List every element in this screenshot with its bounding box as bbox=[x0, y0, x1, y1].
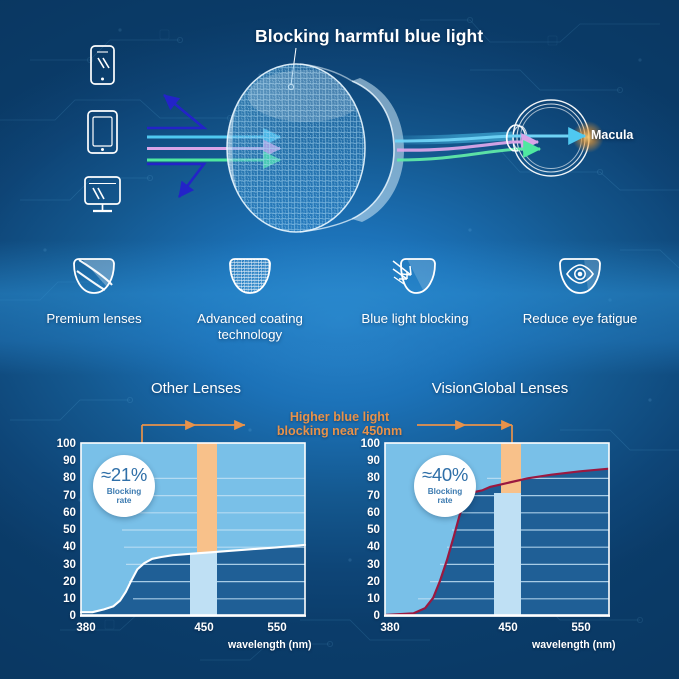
y-tick-left: 100 bbox=[50, 438, 76, 450]
blocking-rate-badge-left: ≈21% Blockingrate bbox=[93, 455, 155, 517]
lens-graphic bbox=[225, 62, 404, 237]
y-tick-left: 70 bbox=[50, 490, 76, 502]
feature-item-premium-lenses[interactable]: Premium lenses bbox=[12, 252, 176, 327]
features-row: Premium lenses bbox=[0, 252, 679, 362]
feature-label: Reduce eye fatigue bbox=[498, 311, 662, 327]
y-tick-right: 10 bbox=[354, 593, 380, 605]
y-tick-right: 30 bbox=[354, 559, 380, 571]
feature-label: Premium lenses bbox=[12, 311, 176, 327]
y-tick-right: 50 bbox=[354, 524, 380, 536]
hero-vectors bbox=[0, 0, 679, 250]
y-tick-left: 60 bbox=[50, 507, 76, 519]
lens-eye-icon bbox=[498, 252, 662, 302]
blue-band-right bbox=[494, 493, 521, 615]
feature-label: Advanced coating technology bbox=[168, 311, 332, 342]
x-tick-right: 550 bbox=[558, 622, 604, 634]
blue-band-left bbox=[190, 553, 217, 615]
y-tick-right: 70 bbox=[354, 490, 380, 502]
feature-label-line1: Advanced coating bbox=[197, 311, 303, 326]
blocking-rate-caption: Blockingrate bbox=[428, 488, 463, 506]
ray-cyan-out bbox=[395, 136, 512, 141]
blocking-rate-value: ≈40% bbox=[422, 466, 468, 485]
y-tick-right: 20 bbox=[354, 576, 380, 588]
infographic-root: Blocking harmful blue light bbox=[0, 0, 679, 679]
ray-reflected-upper bbox=[147, 95, 204, 128]
feature-item-advanced-coating[interactable]: Advanced coating technology bbox=[168, 252, 332, 342]
feature-item-reduce-eye-fatigue[interactable]: Reduce eye fatigue bbox=[498, 252, 662, 327]
y-tick-left: 20 bbox=[50, 576, 76, 588]
orange-band-right bbox=[501, 443, 521, 494]
lens-premium-icon bbox=[12, 252, 176, 302]
feature-item-blue-light-blocking[interactable]: Blue light blocking bbox=[333, 252, 497, 327]
tablet-icon bbox=[88, 111, 117, 153]
feature-label: Blue light blocking bbox=[333, 311, 497, 327]
lens-coating-icon bbox=[168, 252, 332, 302]
lens-blueblock-icon bbox=[333, 252, 497, 302]
y-tick-right: 0 bbox=[354, 610, 380, 622]
feature-label-line2: technology bbox=[218, 327, 282, 342]
blocking-rate-badge-right: ≈40% Blockingrate bbox=[414, 455, 476, 517]
y-tick-left: 80 bbox=[50, 472, 76, 484]
ray-reflected-lower bbox=[147, 164, 204, 197]
monitor-icon bbox=[85, 177, 120, 211]
y-tick-right: 90 bbox=[354, 455, 380, 467]
y-tick-left: 50 bbox=[50, 524, 76, 536]
x-axis-caption-right: wavelength (nm) bbox=[532, 639, 616, 651]
orange-band-left bbox=[197, 443, 217, 553]
blocking-rate-value: ≈21% bbox=[101, 466, 147, 485]
y-tick-right: 60 bbox=[354, 507, 380, 519]
y-tick-left: 10 bbox=[50, 593, 76, 605]
x-tick-right: 450 bbox=[485, 622, 531, 634]
x-tick-right: 380 bbox=[367, 622, 413, 634]
hero-diagram: Blocking harmful blue light bbox=[0, 0, 679, 250]
y-tick-right: 40 bbox=[354, 541, 380, 553]
charts-section: Other Lenses VisionGlobal Lenses Higher … bbox=[0, 372, 679, 679]
y-tick-left: 30 bbox=[50, 559, 76, 571]
blocking-rate-caption: Blockingrate bbox=[107, 488, 142, 506]
macula-label: Macula bbox=[591, 128, 633, 142]
y-tick-right: 80 bbox=[354, 472, 380, 484]
y-tick-left: 0 bbox=[50, 610, 76, 622]
y-tick-right: 100 bbox=[354, 438, 380, 450]
y-tick-left: 90 bbox=[50, 455, 76, 467]
x-axis-caption-left: wavelength (nm) bbox=[228, 639, 312, 651]
smartphone-icon bbox=[91, 46, 114, 84]
x-tick-left: 450 bbox=[181, 622, 227, 634]
y-tick-left: 40 bbox=[50, 541, 76, 553]
x-tick-left: 550 bbox=[254, 622, 300, 634]
x-tick-left: 380 bbox=[63, 622, 109, 634]
